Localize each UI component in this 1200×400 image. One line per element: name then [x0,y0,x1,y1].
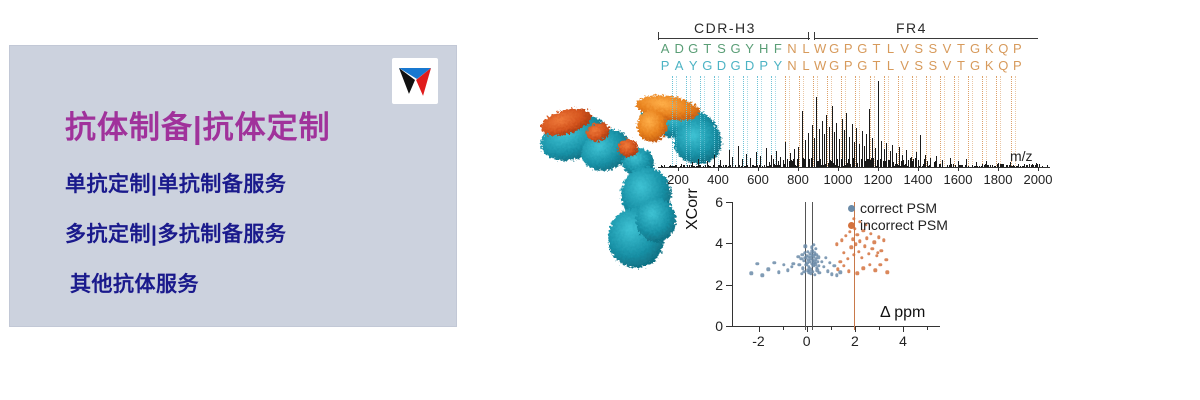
spectrum-peak [816,97,817,168]
scatter-point-correct [750,272,753,275]
scatter-y-tick [726,326,732,327]
scatter-point-correct [800,272,803,275]
sequence-residue: N [785,57,799,74]
scatter-point-incorrect [850,246,853,249]
sequence-residue: Q [996,40,1010,57]
sequence-residue: K [982,40,996,57]
legend-marker-incorrect-icon [848,222,855,229]
scatter-x-tick [855,327,856,332]
sequence-residue: Q [996,57,1010,74]
scatter-point-correct [820,260,823,263]
spectrum-peak [785,142,786,168]
scatter-point-correct [756,262,759,265]
sequence-residue: G [686,40,700,57]
scatter-point-incorrect [863,245,866,248]
mz-tick [838,167,839,171]
sequence-residue: H [757,40,771,57]
mz-tick-label: 2000 [1024,172,1053,187]
sequence-residue: K [982,57,996,74]
scatter-x-tick [903,327,904,332]
scatter-x-minor-tick [831,327,832,330]
sequence-row-query: ADGTSGYHFNLWGPGTLVSSVTGKQP [658,40,1048,57]
sequence-residue: T [700,40,714,57]
sequence-residue: T [954,57,968,74]
scatter-point-incorrect [874,268,877,271]
scatter-point-incorrect [842,264,845,267]
scatter-point-incorrect [852,253,855,256]
sequence-residue: G [855,40,869,57]
legend-label-correct: correct PSM [860,200,937,217]
legend-label-incorrect: incorrect PSM [860,217,948,234]
spectrum-peak [822,121,823,168]
spectrum-peak [814,138,815,168]
scatter-point-correct [818,271,821,274]
psm-scatter-plot: XCorr Δ ppm 0246-2024 correct PSM incorr… [690,196,950,356]
scatter-point-incorrect [857,250,860,253]
scatter-point-correct [826,270,829,273]
sequence-residue: G [827,57,841,74]
mz-tick-label: 200 [667,172,689,187]
scatter-point-incorrect [886,271,889,274]
scatter-point-correct [786,268,789,271]
scatter-y-axis-label: XCorr [684,188,702,230]
scatter-y-tick-label: 2 [715,277,723,293]
mz-tick [678,167,679,171]
domain-label-fr4: FR4 [896,20,927,36]
scatter-point-correct [824,256,827,259]
mass-spectrum-baseline [658,167,1050,168]
scatter-point-correct [804,245,807,248]
scatter-y-tick [726,202,732,203]
scatter-point-correct [817,264,820,267]
scatter-x-tick-label: -2 [752,333,764,349]
scatter-x-tick [759,327,760,332]
promo-service-link-pab[interactable]: 多抗定制|多抗制备服务 [65,218,286,248]
mz-tick [878,167,879,171]
mass-spectrum-plot [658,76,1048,168]
spectrum-peak [849,137,850,169]
promo-service-link-other[interactable]: 其他抗体服务 [70,268,199,298]
sequence-residue: T [869,57,883,74]
sequence-residue: T [869,40,883,57]
scatter-point-incorrect [835,243,838,246]
scatter-y-tick-label: 6 [715,194,723,210]
scatter-point-incorrect [885,258,888,261]
mz-tick [998,167,999,171]
sequence-residue: S [926,40,940,57]
scatter-point-incorrect [840,239,843,242]
sequence-residue: G [855,57,869,74]
sequence-residue: T [954,40,968,57]
sequence-residue: S [714,40,728,57]
sequence-residue: G [728,57,742,74]
scatter-x-minor-tick [783,327,784,330]
scatter-legend: correct PSM incorrect PSM [848,200,948,234]
scatter-y-tick [726,243,732,244]
scatter-point-correct [828,261,831,264]
mz-tick-label: 1800 [984,172,1013,187]
scatter-point-correct [835,274,838,277]
scatter-point-correct [830,273,833,276]
legend-item-correct: correct PSM [848,200,948,217]
sequence-residue: S [912,57,926,74]
cdr-bracket-tick-right [808,32,809,40]
scatter-point-incorrect [860,256,863,259]
sequence-residue: G [700,57,714,74]
sequence-residue: A [672,57,686,74]
sequence-residue: G [968,40,982,57]
scatter-point-correct [760,274,763,277]
scatter-y-tick [726,285,732,286]
scatter-point-incorrect [872,241,875,244]
scatter-point-incorrect [847,270,850,273]
scatter-x-tick-label: 2 [851,333,859,349]
sequence-residue: L [799,57,813,74]
mz-tick-label: 1600 [944,172,973,187]
scatter-point-incorrect [865,236,868,239]
sequence-residue: G [968,57,982,74]
sequence-residue: D [714,57,728,74]
scatter-point-incorrect [871,247,874,250]
scatter-x-minor-tick [927,327,928,330]
sequence-residue: V [898,57,912,74]
scatter-point-correct [817,255,820,258]
mz-tick [798,167,799,171]
sequence-residue: S [912,40,926,57]
scatter-point-incorrect [846,257,849,260]
mz-tick-label: 1200 [864,172,893,187]
sequence-residue: Y [686,57,700,74]
scatter-x-axis [732,326,940,327]
domain-label-cdr-h3: CDR-H3 [694,20,756,36]
sequence-alignment-block: ADGTSGYHFNLWGPGTLVSSVTGKQP PAYGDGDPYNLWG… [658,40,1048,74]
sequence-residue: V [898,40,912,57]
sequence-residue: L [799,40,813,57]
page-title: 抗体制备|抗体定制 [65,102,331,147]
sequence-residue: D [672,40,686,57]
spectrum-peak [875,148,876,168]
mz-tick [758,167,759,171]
sequence-residue: F [771,40,785,57]
scatter-point-incorrect [882,239,885,242]
sequence-residue: N [785,40,799,57]
scatter-point-incorrect [868,263,871,266]
mz-tick [958,167,959,171]
spectrum-peak [854,142,855,168]
scatter-point-incorrect [862,266,865,269]
scatter-point-incorrect [877,235,880,238]
scatter-x-minor-tick [879,327,880,330]
mz-tick [1038,167,1039,171]
scatter-point-incorrect [839,260,842,263]
sequence-residue: Y [743,40,757,57]
sequence-residue: G [827,40,841,57]
legend-item-incorrect: incorrect PSM [848,217,948,234]
scatter-point-incorrect [878,263,881,266]
scatter-point-incorrect [856,272,859,275]
scatter-point-incorrect [854,243,857,246]
mz-tick [918,167,919,171]
spectrum-peak [826,115,827,168]
scatter-y-tick-label: 0 [715,318,723,334]
fr4-bracket-line [814,38,1038,39]
scatter-point-incorrect [867,252,870,255]
promo-service-link-mab[interactable]: 单抗定制|单抗制备服务 [65,168,286,198]
scatter-x-tick-label: 0 [803,333,811,349]
sequence-residue: P [1010,57,1024,74]
scatter-point-incorrect [842,251,845,254]
scatter-point-correct [772,261,775,264]
sequence-residue: L [884,57,898,74]
sequence-row-subject: PAYGDGDPYNLWGPGTLVSSVTGKQP [658,57,1048,74]
scatter-x-tick [807,327,808,332]
scatter-point-correct [814,247,817,250]
sequence-residue: D [743,57,757,74]
sequence-residue: G [728,40,742,57]
scatter-point-correct [782,263,785,266]
mz-tick-label: 800 [787,172,809,187]
cdr-bracket-line [658,38,810,39]
sequence-residue: P [841,57,855,74]
spectrum-peak [805,140,806,168]
cdr-bracket-tick-left [658,32,659,40]
sequence-residue: V [940,57,954,74]
chevron-logo-glyph [397,64,433,98]
mz-tick-label: 400 [707,172,729,187]
scatter-point-correct [777,271,780,274]
scatter-point-correct [816,260,819,263]
legend-marker-correct-icon [848,205,855,212]
mz-tick [718,167,719,171]
scatter-point-correct [790,265,793,268]
sequence-residue: L [884,40,898,57]
sequence-residue: A [658,40,672,57]
sequence-residue: P [841,40,855,57]
sequence-residue: P [757,57,771,74]
sequence-residue: S [926,57,940,74]
sequence-residue: V [940,40,954,57]
scatter-point-incorrect [876,251,879,254]
sequence-residue: Y [771,57,785,74]
scatter-point-incorrect [844,234,847,237]
mz-axis-label: m/z [1010,148,1033,164]
spectrum-peak [920,135,921,168]
scatter-y-tick-label: 4 [715,235,723,251]
sequence-residue: P [1010,40,1024,57]
fr4-bracket-tick-left [814,32,815,40]
scatter-point-incorrect [858,240,861,243]
scatter-point-correct [766,267,769,270]
sequence-residue: W [813,40,827,57]
mz-tick-label: 600 [747,172,769,187]
promo-panel: 抗体制备|抗体定制 单抗定制|单抗制备服务 多抗定制|多抗制备服务 其他抗体服务 [10,46,456,326]
sequence-residue: P [658,57,672,74]
tri-color-chevron-logo [392,58,438,104]
scatter-point-incorrect [880,249,883,252]
scatter-point-incorrect [875,254,878,257]
sequence-residue: W [813,57,827,74]
scatter-point-correct [813,273,816,276]
scatter-point-correct [839,271,842,274]
spectrum-peak [878,81,879,168]
mz-tick-label: 1000 [824,172,853,187]
mz-tick-label: 1400 [904,172,933,187]
scatter-point-correct [822,265,825,268]
scientific-figure-panel: CDR-H3 FR4 ADGTSGYHFNLWGPGTLVSSVTGKQP PA… [520,0,1200,400]
scatter-x-tick-label: 4 [899,333,907,349]
